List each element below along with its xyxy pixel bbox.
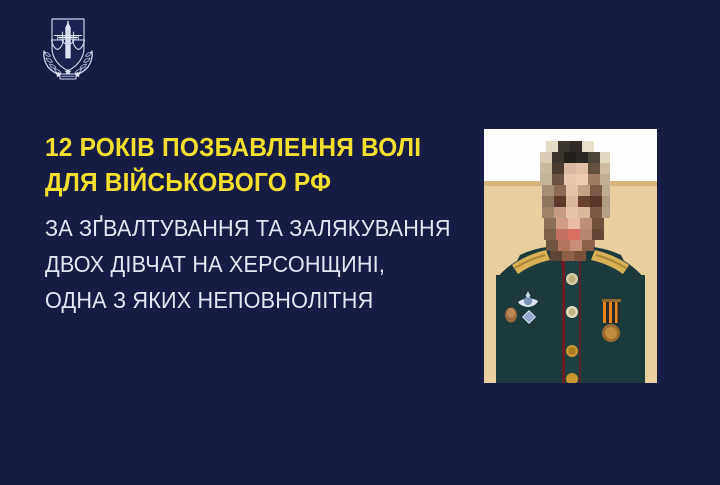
subtitle-line-1: ЗА ЗҐВАЛТУВАННЯ ТА ЗАЛЯКУВАННЯ — [45, 210, 440, 246]
poster-text-block: 12 РОКІВ ПОЗБАВЛЕННЯ ВОЛІ ДЛЯ ВІЙСЬКОВОГ… — [45, 131, 465, 318]
poster-canvas: 12 РОКІВ ПОЗБАВЛЕННЯ ВОЛІ ДЛЯ ВІЙСЬКОВОГ… — [0, 0, 720, 485]
subtitle-line-2: ДВОХ ДІВЧАТ НА ХЕРСОНЩИНІ, — [45, 246, 440, 282]
prosecutors-office-emblem — [38, 15, 98, 81]
headline-line-1: 12 РОКІВ ПОЗБАВЛЕННЯ ВОЛІ — [45, 131, 448, 166]
suspect-photo — [484, 129, 657, 383]
subtitle-group: ЗА ЗҐВАЛТУВАННЯ ТА ЗАЛЯКУВАННЯ ДВОХ ДІВЧ… — [45, 210, 465, 318]
emblem-graphic — [38, 15, 98, 81]
headline-line-2: ДЛЯ ВІЙСЬКОВОГО РФ — [45, 166, 448, 201]
headline-group: 12 РОКІВ ПОЗБАВЛЕННЯ ВОЛІ ДЛЯ ВІЙСЬКОВОГ… — [45, 131, 465, 201]
suspect-photo-graphic — [484, 129, 657, 383]
subtitle-line-3: ОДНА З ЯКИХ НЕПОВНОЛІТНЯ — [45, 282, 440, 318]
